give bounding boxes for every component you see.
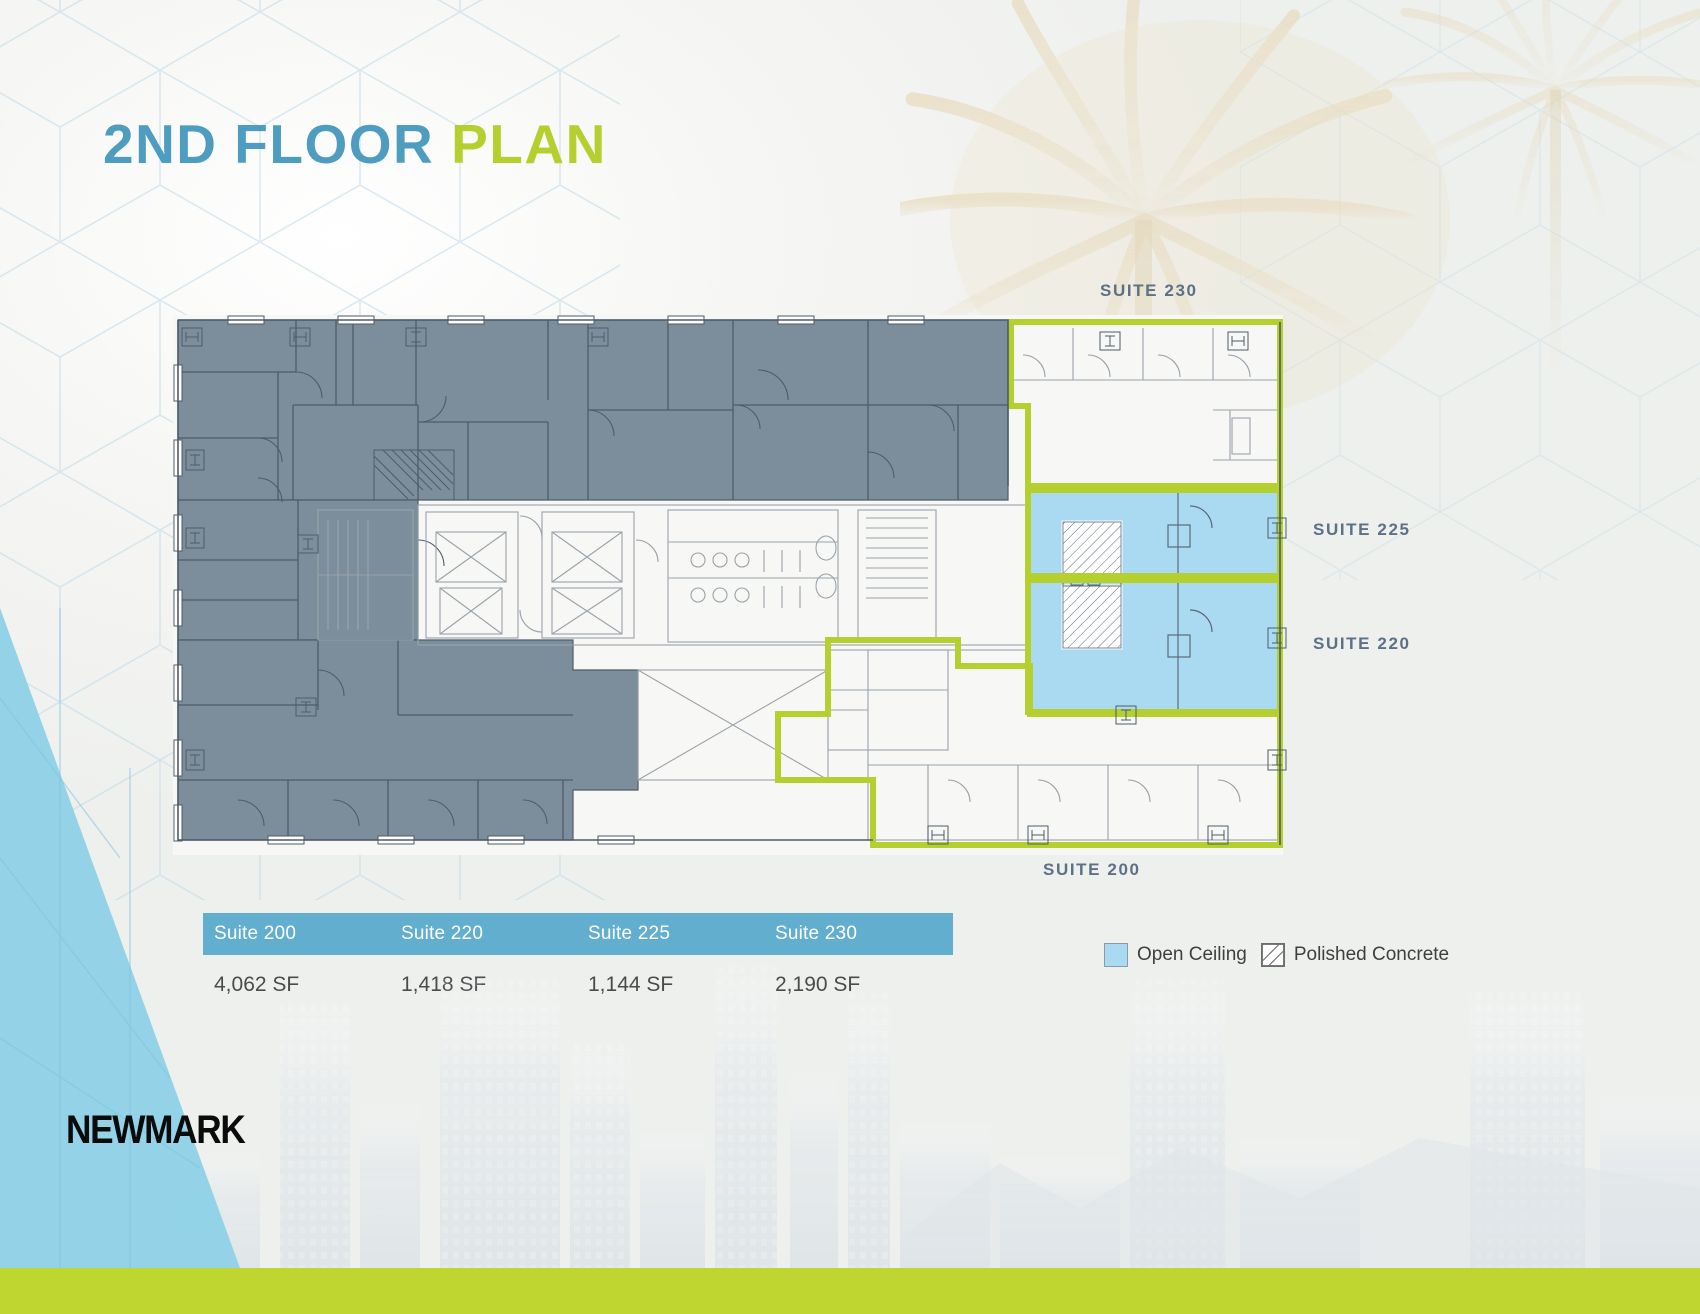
legend-label-open-ceiling: Open Ceiling	[1137, 944, 1247, 966]
table-header-suite-230: Suite 230	[764, 923, 951, 945]
table-header-suite-225: Suite 225	[577, 923, 764, 945]
table-value-suite-200: 4,062 SF	[203, 973, 390, 997]
background-lattice-pattern-right	[1240, 0, 1700, 580]
polished-concrete-swatch	[1261, 943, 1285, 967]
page-title-part2: PLAN	[451, 113, 607, 175]
table-value-suite-225: 1,144 SF	[577, 973, 764, 997]
floor-plan-drawing	[168, 310, 1288, 860]
page-title-part1: 2ND FLOOR	[103, 113, 451, 175]
newmark-logo: NEWMARK	[66, 1108, 244, 1153]
suite-area-table-values: 4,062 SF 1,418 SF 1,144 SF 2,190 SF	[203, 955, 953, 1015]
suite-200-callout: SUITE 200	[1043, 860, 1141, 880]
table-value-suite-220: 1,418 SF	[390, 973, 577, 997]
table-header-suite-200: Suite 200	[203, 923, 390, 945]
table-value-suite-230: 2,190 SF	[764, 973, 951, 997]
legend-label-polished-concrete: Polished Concrete	[1294, 944, 1449, 966]
suite-225-callout: SUITE 225	[1313, 520, 1411, 540]
suite-area-table: Suite 200 Suite 220 Suite 225 Suite 230 …	[203, 913, 953, 1015]
open-ceiling-swatch	[1104, 943, 1128, 967]
suite-230-callout: SUITE 230	[1100, 281, 1198, 301]
bottom-accent-bar	[0, 1268, 1700, 1314]
suite-area-table-header: Suite 200 Suite 220 Suite 225 Suite 230	[203, 913, 953, 955]
page-title: 2ND FLOOR PLAN	[103, 112, 607, 176]
plan-legend: Open Ceiling Polished Concrete	[1104, 943, 1449, 967]
suite-220-callout: SUITE 220	[1313, 634, 1411, 654]
legend-item-polished-concrete: Polished Concrete	[1261, 943, 1449, 967]
legend-item-open-ceiling: Open Ceiling	[1104, 943, 1247, 967]
table-header-suite-220: Suite 220	[390, 923, 577, 945]
floor-plan-flyer: 2ND FLOOR PLAN	[0, 0, 1700, 1314]
polished-concrete-regions	[1063, 522, 1121, 648]
